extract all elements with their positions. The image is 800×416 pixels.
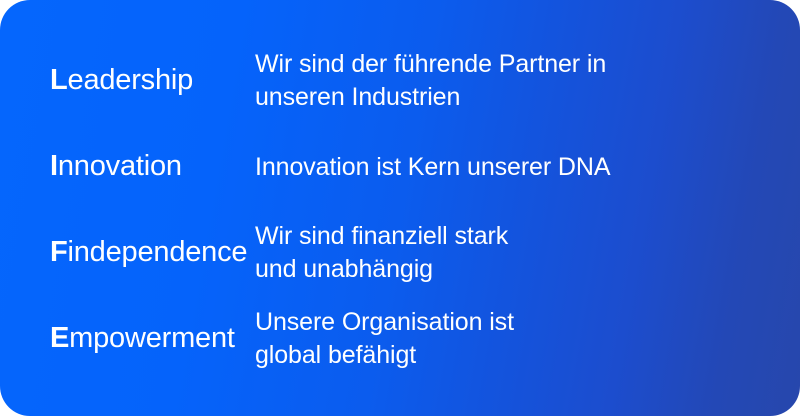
value-description-findependence: Wir sind finanziell stark und unabhängig — [255, 220, 800, 286]
value-term-remainder: eadership — [68, 64, 194, 96]
value-initial-letter: E — [50, 322, 69, 354]
value-row: Leadership Wir sind der führende Partner… — [0, 38, 800, 124]
value-initial-letter: F — [50, 236, 68, 268]
value-term-leadership: Leadership — [0, 65, 255, 97]
value-term-innovation: Innovation — [0, 151, 255, 183]
value-row: Innovation Innovation ist Kern unserer D… — [0, 124, 800, 210]
value-row: Findependence Wir sind finanziell stark … — [0, 210, 800, 296]
value-term-empowerment: Empowerment — [0, 323, 255, 355]
value-term-remainder: nnovation — [58, 150, 182, 182]
value-description-leadership: Wir sind der führende Partner in unseren… — [255, 48, 800, 114]
value-description-innovation: Innovation ist Kern unserer DNA — [255, 151, 800, 184]
value-term-remainder: mpowerment — [69, 322, 235, 354]
value-initial-letter: I — [50, 150, 58, 182]
values-list: Leadership Wir sind der führende Partner… — [0, 0, 800, 416]
company-values-card: Leadership Wir sind der führende Partner… — [0, 0, 800, 416]
value-description-empowerment: Unsere Organisation ist global befähigt — [255, 306, 800, 372]
value-row: Empowerment Unsere Organisation ist glob… — [0, 296, 800, 382]
value-initial-letter: L — [50, 64, 68, 96]
value-term-findependence: Findependence — [0, 237, 255, 269]
value-term-remainder: independence — [68, 236, 248, 268]
